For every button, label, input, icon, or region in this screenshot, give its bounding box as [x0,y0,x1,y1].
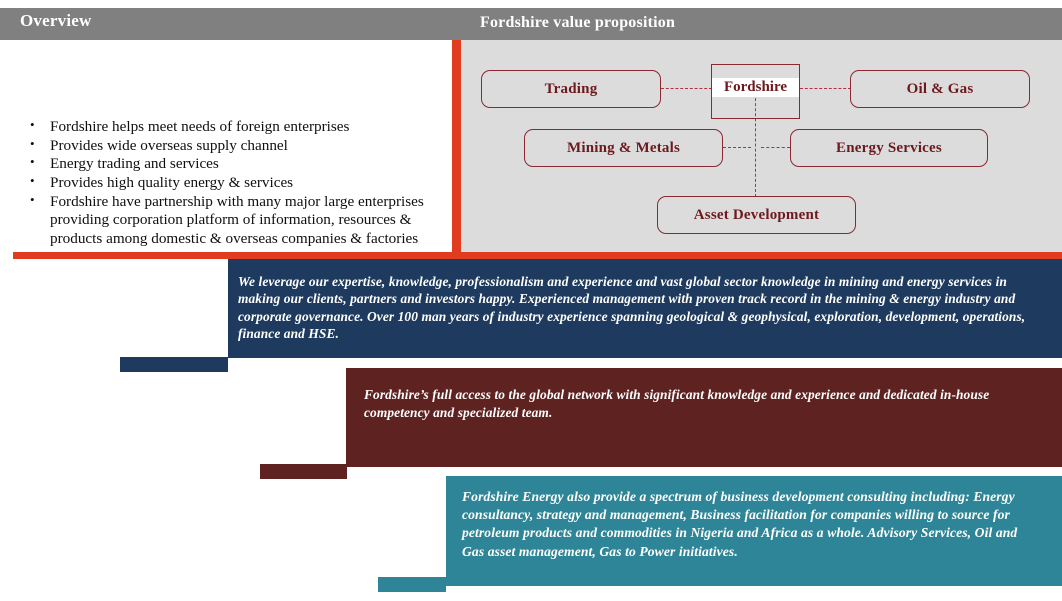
page-title-overview: Overview [20,11,91,31]
connector-mining-to-center [723,147,751,148]
section-separator-red [13,252,1062,259]
accent-tab-global-network [260,464,347,479]
diagram-node-asset-development[interactable]: Asset Development [657,196,856,234]
content-block-text: We leverage our expertise, knowledge, pr… [238,273,1040,343]
diagram-node-energy-services[interactable]: Energy Services [790,129,988,167]
list-item: Energy trading and services [22,155,432,174]
list-item: Fordshire have partnership with many maj… [22,193,432,249]
content-block-expertise: We leverage our expertise, knowledge, pr… [228,259,1062,358]
content-block-global-network: Fordshire’s full access to the global ne… [346,368,1062,467]
list-item: Fordshire helps meet needs of foreign en… [22,118,432,137]
accent-tab-consulting [378,577,446,592]
panel-divider-red [452,40,461,255]
diagram-node-trading[interactable]: Trading [481,70,661,108]
connector-trading-to-fordshire [661,88,712,89]
value-proposition-diagram: Trading Oil & Gas Mining & Metals Energy… [461,40,1062,253]
overview-bullet-list: Fordshire helps meet needs of foreign en… [22,118,432,249]
accent-tab-expertise [120,357,228,372]
overview-panel: Fordshire helps meet needs of foreign en… [0,40,452,253]
page-title-value-proposition: Fordshire value proposition [480,14,675,32]
content-block-consulting: Fordshire Energy also provide a spectrum… [446,476,1062,586]
connector-center-to-energy-services [761,147,790,148]
list-item: Provides high quality energy & services [22,174,432,193]
list-item: Provides wide overseas supply channel [22,137,432,156]
content-block-text: Fordshire Energy also provide a spectrum… [462,488,1040,561]
connector-fordshire-to-oil-and-gas [800,88,851,89]
diagram-node-oil-and-gas[interactable]: Oil & Gas [850,70,1030,108]
diagram-node-mining-and-metals[interactable]: Mining & Metals [524,129,723,167]
diagram-node-fordshire-label: Fordshire [712,78,799,97]
content-block-text: Fordshire’s full access to the global ne… [364,386,1040,421]
